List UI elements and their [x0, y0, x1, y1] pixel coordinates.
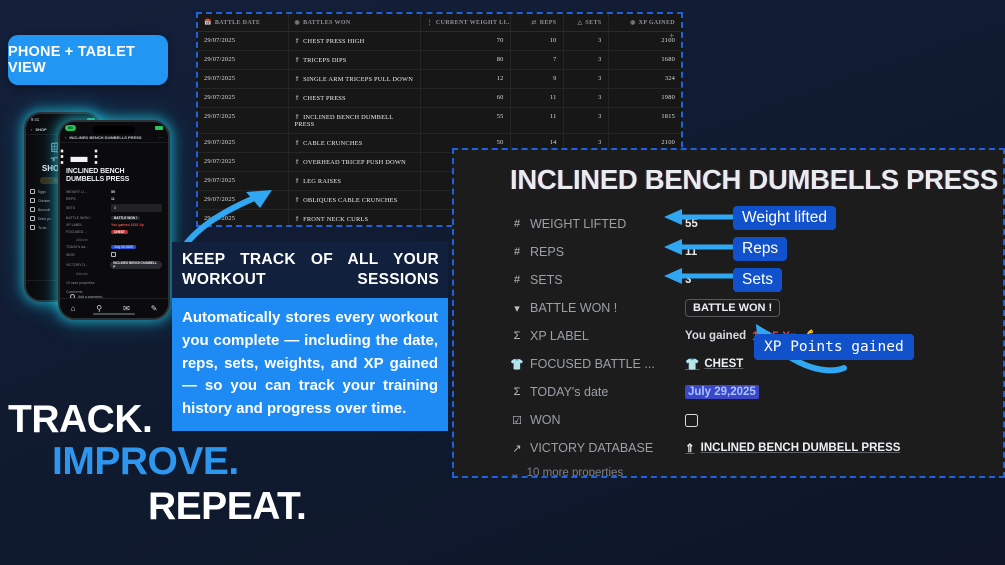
front-prop-weight[interactable]: WEIGHT LI... 55 [66, 190, 162, 194]
cell-battle-date: 29/07/2025 [198, 70, 288, 89]
column-label: CURRENT WEIGHT LI... [436, 20, 510, 26]
slogan-improve: IMPROVE. [52, 440, 239, 484]
weight-icon: ⋮ [427, 20, 433, 26]
front-prop-focus[interactable]: FOCUSED ... CHEST [66, 230, 162, 234]
detail-key-weight-lifted: # WEIGHT LIFTED [510, 217, 685, 231]
notch [93, 126, 135, 134]
add-column-icon[interactable]: + [669, 31, 674, 40]
home-icon[interactable]: ⌂ [70, 304, 75, 313]
cell-weight: 55 [420, 108, 510, 134]
list-item-label: Eggs [38, 190, 46, 194]
bars-icon: △ [577, 20, 582, 26]
front-topbar[interactable]: ‹ INCLINED BENCH DUMBELLS PRESS ··· [60, 133, 168, 143]
table-header: 📅BATTLE DATE ◉BATTLES WON ⋮CURRENT WEIGH… [198, 14, 681, 32]
front-network-pill: 5G [65, 125, 76, 131]
column-header-battle-date[interactable]: 📅BATTLE DATE [198, 14, 288, 32]
front-prop-value: 55 [111, 190, 115, 194]
xp-prefix: You gained [685, 330, 746, 342]
callout-xp-points-gained: XP Points gained [754, 334, 914, 360]
phone-tablet-view-badge: PHONE + TABLET VIEW [8, 35, 168, 85]
sigma-icon: Σ [510, 330, 524, 342]
cell-xp: 324 [608, 70, 681, 89]
detail-key-label: REPS [530, 245, 564, 259]
cell-sets: 3 [563, 32, 608, 51]
chevrons-up-icon: ⇑ [295, 57, 301, 64]
detail-key-label: TODAY's date [530, 385, 608, 399]
phone-mockups: 9:41 ‹ SHOP 🛒 SHOPPING + Add item Eggs C… [10, 108, 175, 323]
table-row[interactable]: 29/07/2025⇑SINGLE ARM TRICEPS PULL DOWN1… [198, 70, 681, 89]
detail-key-label: WEIGHT LIFTED [530, 217, 626, 231]
cell-reps: 11 [510, 108, 563, 134]
front-topbar-title: INCLINED BENCH DUMBELLS PRESS [69, 135, 156, 140]
cell-weight: 80 [420, 51, 510, 70]
callout-reps: Reps [733, 237, 787, 261]
cell-reps: 11 [510, 89, 563, 108]
front-won-checkbox[interactable] [111, 252, 116, 257]
front-date-chip: July 29,2025 [111, 245, 136, 249]
front-add-one-2[interactable]: Add one [76, 272, 162, 276]
detail-key-label: SETS [530, 273, 563, 287]
list-item-label: To do... [38, 226, 49, 230]
detail-key-label: XP LABEL [530, 329, 589, 343]
detail-key-battle-won: ▾ BATTLE WON ! [510, 301, 685, 315]
more-properties-toggle[interactable]: ⌄ 10 more properties [510, 466, 987, 478]
cell-battle-date: 29/07/2025 [198, 51, 288, 70]
column-label: REPS [540, 20, 557, 26]
victory-database-label: INCLINED BENCH DUMBELL PRESS [701, 442, 901, 454]
callout-sets: Sets [733, 268, 782, 292]
column-header-battles-won[interactable]: ◉BATTLES WON [288, 14, 420, 32]
front-focus-chip: CHEST [111, 230, 128, 234]
detail-key-label: WON [530, 413, 561, 427]
hash-icon: # [510, 218, 524, 230]
front-prop-won[interactable]: WON [66, 252, 162, 257]
cell-weight: 70 [420, 32, 510, 51]
front-xp-value: You gained 1815 Xp [111, 223, 144, 227]
target-icon: ◉ [630, 20, 636, 26]
phone-mockup-front: 5G ‹ INCLINED BENCH DUMBELLS PRESS ··· ⋮… [58, 120, 170, 320]
front-prop-key: REPS [66, 197, 108, 201]
back-status-time: 9:41 [31, 117, 39, 122]
detail-key-label: FOCUSED BATTLE ... [530, 357, 655, 371]
cell-battle-date: 29/07/2025 [198, 134, 288, 153]
chevrons-up-icon: ⇑ [295, 114, 301, 121]
cell-reps: 7 [510, 51, 563, 70]
chevrons-up-icon: ⇑ [295, 197, 301, 204]
front-tabbar[interactable]: ⌂ ⚲ ✉ ✎ [60, 298, 168, 318]
cell-sets: 3 [563, 108, 608, 134]
arrow-up-right-icon: ↗ [510, 442, 524, 455]
cell-battle-name: ⇑OVERHEAD TRICEP PUSH DOWN [288, 153, 420, 172]
cell-xp: 1815 [608, 108, 681, 134]
list-item-label: Chicken [38, 199, 50, 203]
detail-key-reps: # REPS [510, 245, 685, 259]
table-row[interactable]: 29/07/2025⇑TRICEPS DIPS80731680 [198, 51, 681, 70]
badge-label: PHONE + TABLET VIEW [8, 44, 168, 76]
checkbox-icon [30, 207, 35, 212]
back-icon[interactable]: ‹ [31, 127, 32, 132]
detail-row-won[interactable]: ☑ WON [510, 406, 987, 434]
front-prop-key: SETS [66, 206, 108, 210]
arrow-sets [662, 268, 736, 284]
cell-battle-name: ⇑OBLIQUES CABLE CRUNCHES [288, 191, 420, 210]
list-item-label: Broccoli [38, 208, 50, 212]
column-header-sets[interactable]: △SETS [563, 14, 608, 32]
select-icon: ▾ [510, 302, 524, 315]
cell-battle-name: ⇑INCLINED BENCH DUMBELL PRESS [288, 108, 420, 134]
cell-battle-date: 29/07/2025 [198, 32, 288, 51]
cell-battle-name: ⇑CHEST PRESS HIGH [288, 32, 420, 51]
front-victory-chip: INCLINED BENCH DUMBELL P [110, 261, 162, 269]
cell-sets: 3 [563, 70, 608, 89]
column-header-xp-gained[interactable]: ◉XP GAINED [608, 14, 681, 32]
sigma-icon: Σ [510, 386, 524, 398]
shirt-emoji: 👕 [685, 357, 699, 371]
detail-key-won: ☑ WON [510, 413, 685, 427]
list-item-label: Drink yo... [38, 217, 53, 221]
cell-battle-date: 29/07/2025 [198, 89, 288, 108]
compose-icon[interactable]: ✎ [151, 304, 158, 313]
front-prop-date[interactable]: TODAY's da... July 29,2025 [66, 245, 162, 249]
cell-reps: 9 [510, 70, 563, 89]
plus-icon: + [55, 179, 57, 183]
front-add-one[interactable]: Add one [76, 238, 162, 242]
front-battery-icon [155, 126, 163, 130]
cell-weight: 60 [420, 89, 510, 108]
marketing-heading: KEEP TRACK OF ALL YOUR WORKOUT SESSIONS [172, 242, 448, 298]
front-prop-key: TODAY's da... [66, 245, 108, 249]
checkbox-icon: ☑ [510, 414, 524, 427]
callout-weight-lifted: Weight lifted [733, 206, 836, 230]
calendar-icon: 📅 [204, 20, 212, 26]
cell-battle-name: ⇑FRONT NECK CURLS [288, 210, 420, 228]
more-properties-label: 10 more properties [527, 467, 624, 478]
cell-battle-date: 29/07/2025 [198, 108, 288, 134]
front-prop-key: WEIGHT LI... [66, 190, 108, 194]
front-prop-key: WON [66, 253, 108, 257]
front-sets-input[interactable]: 3 [111, 204, 162, 212]
front-prop-key: VICTORY D... [66, 263, 107, 267]
record-detail-panel: INCLINED BENCH DUMBELLS PRESS # WEIGHT L… [452, 148, 1005, 478]
detail-key-sets: # SETS [510, 273, 685, 287]
check-circle-icon: ◉ [295, 20, 301, 26]
checkbox-icon [30, 198, 35, 203]
detail-key-label: VICTORY DATABASE [530, 441, 653, 455]
arrow-reps [662, 239, 736, 255]
front-page-title: INCLINED BENCH DUMBELLS PRESS [66, 168, 162, 185]
chevrons-up-icon: ⇑ [295, 76, 301, 83]
table-row[interactable]: 29/07/2025⇑CHEST PRESS601131980 [198, 89, 681, 108]
cell-battle-name: ⇑LEG RAISES [288, 172, 420, 191]
front-prop-key: XP LABEL [66, 223, 108, 227]
chevrons-up-icon: ⇑ [295, 95, 301, 102]
table-header-row: 📅BATTLE DATE ◉BATTLES WON ⋮CURRENT WEIGH… [198, 14, 681, 32]
checkbox-icon [30, 225, 35, 230]
chevron-down-icon: ⌄ [510, 466, 520, 478]
detail-key-label: BATTLE WON ! [530, 301, 617, 315]
dumbbell-icon: ⋮▬⋮ [66, 148, 92, 164]
cell-sets: 3 [563, 51, 608, 70]
checkbox-icon [30, 189, 35, 194]
front-prop-battle[interactable]: BATTLE WON ! BATTLE WON ! [66, 216, 162, 220]
front-prop-xp[interactable]: XP LABEL You gained 1815 Xp [66, 223, 162, 227]
detail-key-focused-battle: 👕 FOCUSED BATTLE ... [510, 357, 685, 371]
won-checkbox[interactable] [685, 414, 698, 427]
chevrons-up-icon: ⇑ [295, 38, 301, 45]
chevrons-up-icon: ⇑ [295, 178, 301, 185]
detail-key-xp-label: Σ XP LABEL [510, 329, 685, 343]
front-prop-key: FOCUSED ... [66, 230, 108, 234]
detail-key-today-date: Σ TODAY's date [510, 385, 685, 399]
cell-weight: 12 [420, 70, 510, 89]
table-row[interactable]: 29/07/2025⇑CHEST PRESS HIGH701032100 [198, 32, 681, 51]
marketing-body: Automatically stores every workout you c… [172, 298, 448, 431]
front-prop-victory[interactable]: VICTORY D... INCLINED BENCH DUMBELL P [66, 261, 162, 269]
chevrons-up-icon: ⇑ [295, 216, 301, 223]
repeat-icon: ⇄ [531, 20, 536, 26]
front-prop-reps[interactable]: REPS 11 [66, 197, 162, 201]
column-label: BATTLE DATE [215, 20, 260, 26]
cell-battle-name: ⇑TRICEPS DIPS [288, 51, 420, 70]
detail-key-victory-database: ↗ VICTORY DATABASE [510, 441, 685, 455]
poster-root: PHONE + TABLET VIEW 9:41 ‹ SHOP 🛒 SHOPPI… [0, 0, 1005, 565]
column-header-reps[interactable]: ⇄REPS [510, 14, 563, 32]
back-icon[interactable]: ‹ [65, 135, 66, 140]
more-icon[interactable]: ··· [159, 135, 163, 140]
table-row[interactable]: 29/07/2025⇑INCLINED BENCH DUMBELL PRESS5… [198, 108, 681, 134]
chevrons-up-icon: ⇑ [295, 159, 301, 166]
chevrons-up-icon: ⇑ [295, 140, 301, 147]
column-label: XP GAINED [639, 20, 675, 26]
cell-xp: 1680 [608, 51, 681, 70]
detail-title: INCLINED BENCH DUMBELLS PRESS [510, 164, 987, 196]
cell-reps: 10 [510, 32, 563, 51]
front-prop-key: BATTLE WON ! [66, 216, 108, 220]
today-date-value: July 29,2025 [685, 385, 759, 399]
detail-row-today-date[interactable]: Σ TODAY's date July 29,2025 [510, 378, 987, 406]
battle-won-badge: BATTLE WON ! [685, 299, 780, 317]
front-body: ⋮▬⋮ INCLINED BENCH DUMBELLS PRESS WEIGHT… [60, 143, 168, 308]
detail-row-victory-database[interactable]: ↗ VICTORY DATABASE ⇑ INCLINED BENCH DUMB… [510, 434, 987, 462]
checkbox-icon [30, 216, 35, 221]
cell-xp: 1980 [608, 89, 681, 108]
front-prop-value: 11 [111, 197, 115, 201]
cell-battle-name: ⇑CABLE CRUNCHES [288, 134, 420, 153]
arrow-weight-lifted [662, 209, 736, 225]
shirt-icon: 👕 [510, 358, 524, 371]
hash-icon: # [510, 246, 524, 258]
focused-battle-chip[interactable]: 👕 CHEST [685, 357, 743, 371]
cell-sets: 3 [563, 89, 608, 108]
slogan-repeat: REPEAT. [148, 485, 306, 529]
front-more-properties[interactable]: 10 more properties [66, 281, 162, 285]
slogan-track: TRACK. [8, 398, 152, 442]
chevrons-up-icon: ⇑ [685, 441, 695, 455]
column-header-current-weight[interactable]: ⋮CURRENT WEIGHT LI... [420, 14, 510, 32]
cell-battle-name: ⇑SINGLE ARM TRICEPS PULL DOWN [288, 70, 420, 89]
front-battle-chip: BATTLE WON ! [111, 216, 140, 220]
cell-battle-name: ⇑CHEST PRESS [288, 89, 420, 108]
hash-icon: # [510, 274, 524, 286]
front-prop-sets[interactable]: SETS 3 [66, 204, 162, 212]
column-label: BATTLES WON [303, 20, 350, 26]
victory-database-link[interactable]: ⇑ INCLINED BENCH DUMBELL PRESS [685, 441, 900, 455]
column-label: SETS [585, 20, 601, 26]
